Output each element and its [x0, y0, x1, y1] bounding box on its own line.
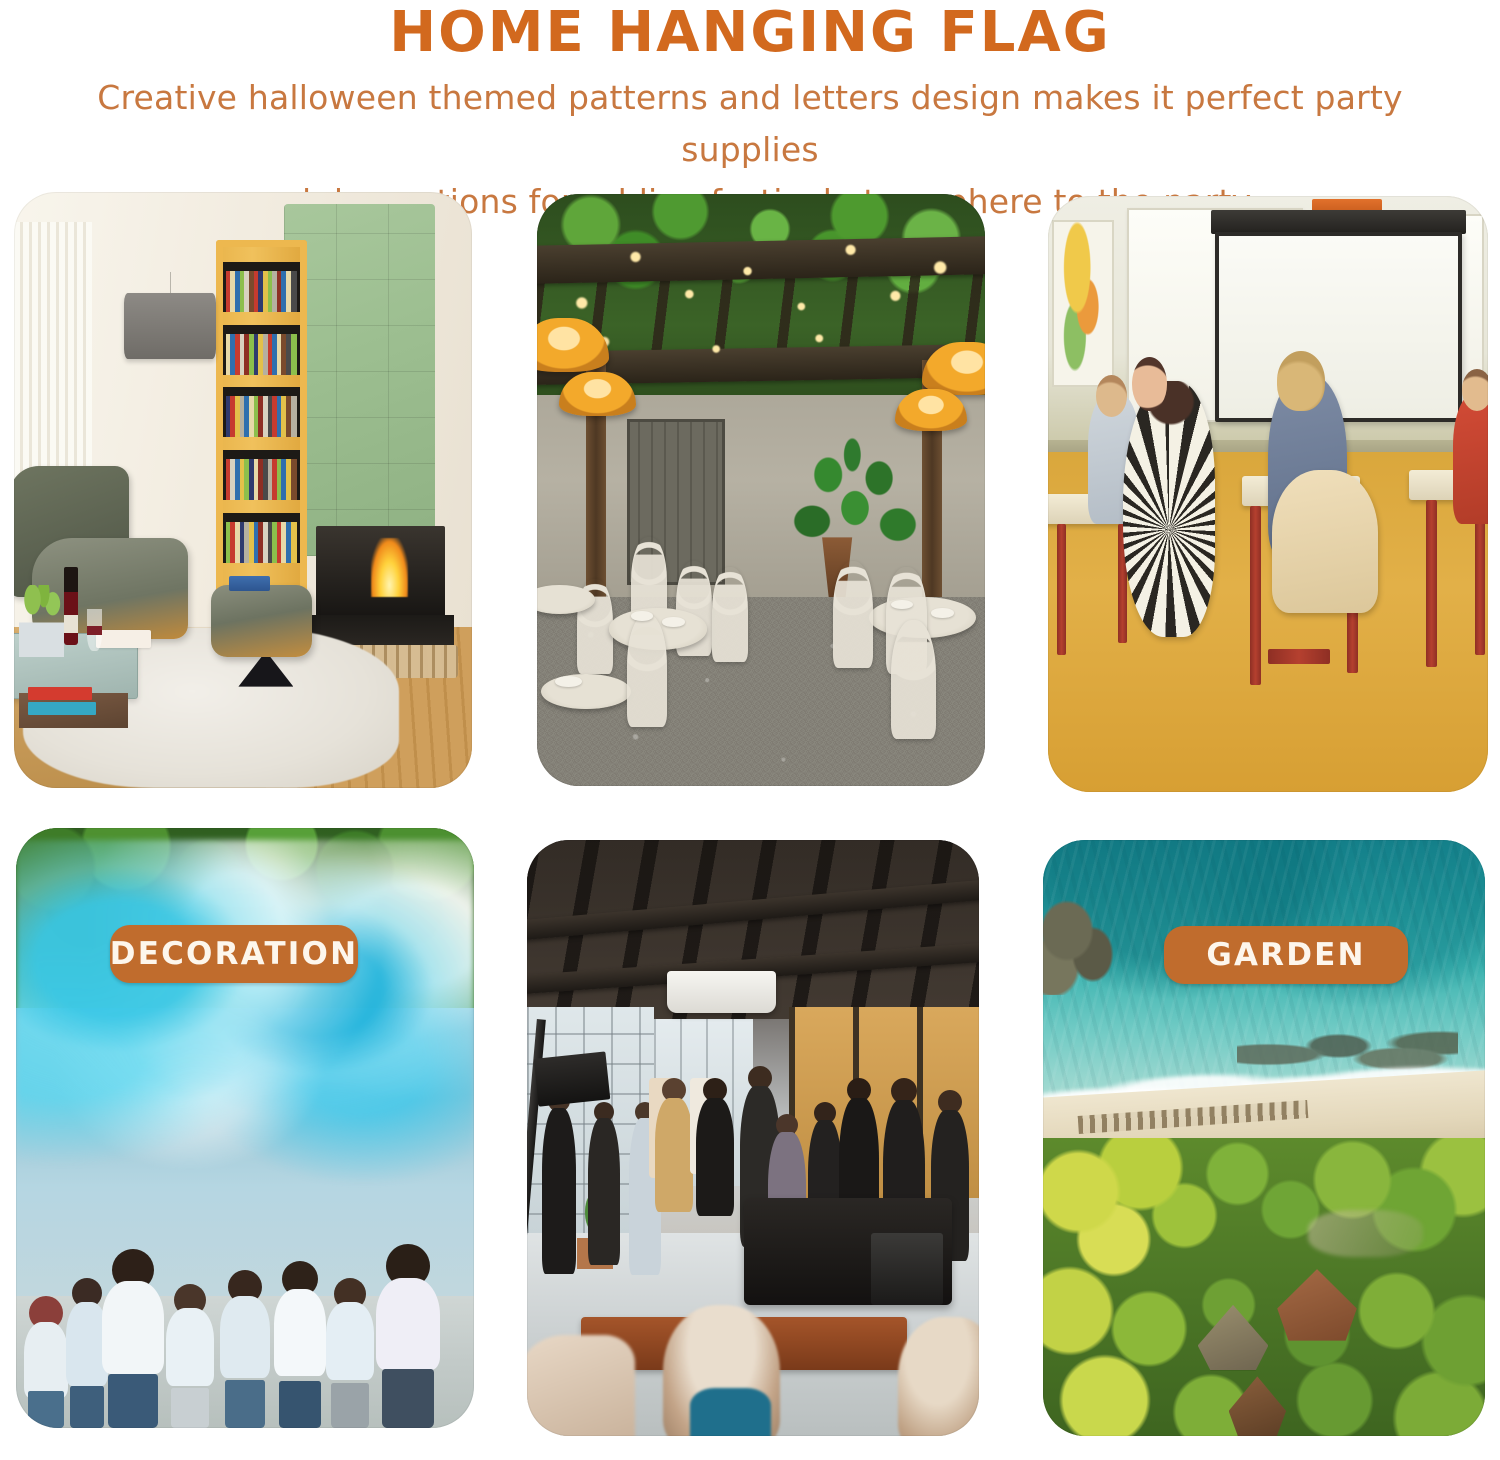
badge-garden[interactable]: GARDEN [1164, 926, 1408, 984]
badge-decoration[interactable]: DECORATION [110, 925, 358, 983]
bookshelf-icon [216, 240, 308, 610]
photo-garden [537, 194, 985, 786]
color-powder-cloud [16, 840, 474, 1212]
infographic-page: HOME HANGING FLAG Creative halloween the… [0, 0, 1500, 1460]
wall-map-icon [1052, 220, 1114, 387]
photo-decoration [14, 192, 472, 788]
photo-grid: DECORATION [0, 0, 1500, 1460]
wine-glass-icon [87, 609, 102, 651]
projector-screen-icon [1215, 232, 1461, 423]
plant-icon [19, 585, 65, 657]
audience-figure [536, 1090, 581, 1293]
fire-icon [371, 538, 408, 598]
card-schools[interactable]: SCHOOLS [1048, 196, 1488, 792]
card-decoration[interactable]: DECORATION [14, 192, 472, 788]
photo-events [527, 840, 979, 1436]
card-garden[interactable]: GARDEN [537, 194, 985, 786]
photo-schools [1048, 196, 1488, 792]
photo-parties [16, 828, 474, 1428]
camera-icon [534, 1051, 611, 1106]
classroom-chair-icon [1272, 470, 1378, 613]
wine-bottle-icon [64, 567, 78, 644]
card-events[interactable]: EVENTS [527, 840, 979, 1436]
teacher-figure [1123, 381, 1215, 637]
card-parties[interactable]: PARTIES [16, 828, 474, 1428]
air-conditioner-icon [667, 971, 775, 1013]
pendant-lamp-icon [124, 293, 216, 359]
audience-figure [690, 1078, 740, 1304]
audience-figure [581, 1102, 626, 1281]
